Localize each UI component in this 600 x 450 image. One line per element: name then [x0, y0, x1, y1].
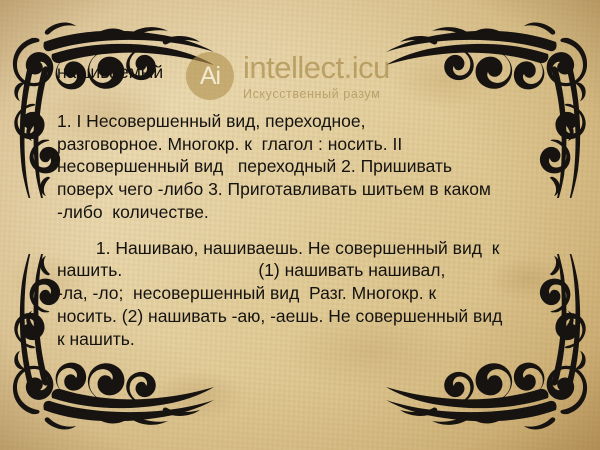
entry-paragraph-1: 1. I Несовершенный вид, переходное, разг…: [57, 110, 557, 224]
dictionary-entry: нашиваемый 1. I Несовершенный вид, перех…: [57, 62, 557, 350]
document-page: Ai intellect.icu Искусственный разум наш…: [0, 0, 600, 450]
headword: нашиваемый: [57, 62, 557, 84]
entry-paragraph-2: 1. Нашиваю, нашиваешь. Не совершенный ви…: [57, 237, 557, 351]
